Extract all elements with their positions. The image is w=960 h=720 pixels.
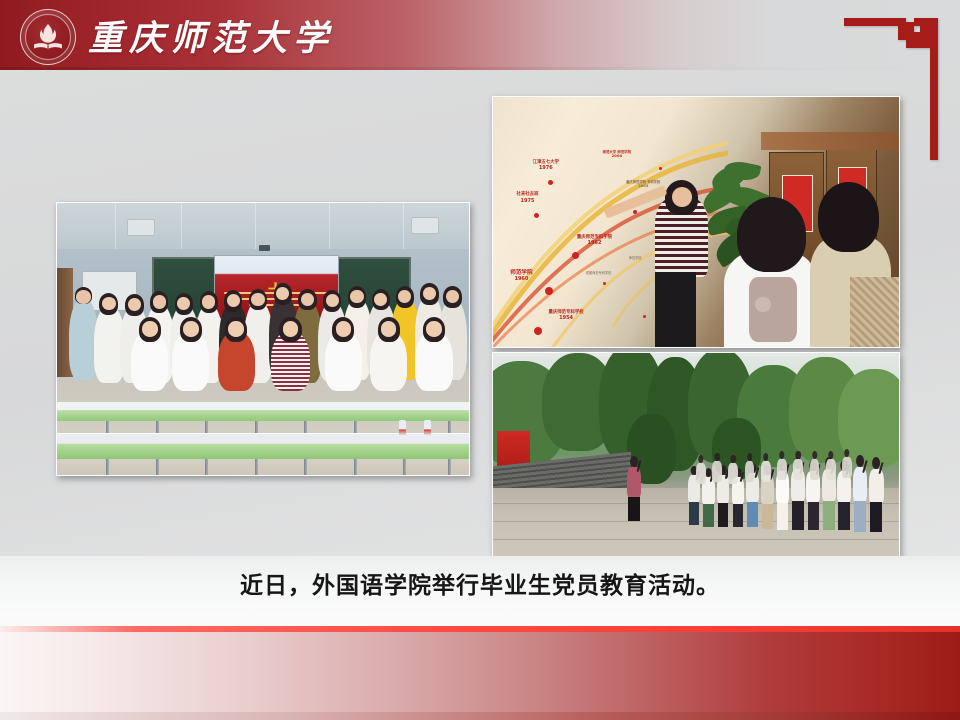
footer-bottom-edge [0, 712, 960, 720]
university-emblem [20, 9, 76, 65]
slide-caption: 近日，外国语学院举行毕业生党员教育活动。 [0, 566, 960, 600]
outdoor-oath-ceremony-photo[interactable] [492, 352, 900, 558]
ceremony-leader [627, 467, 641, 520]
milestone-year: 1954 [517, 315, 614, 321]
emblem-flame-book-glyph [30, 19, 66, 55]
history-wall-scene: 江津五七大学 1976 社来社去班 1975 重庆师范专科学院 1962 师范学… [493, 97, 899, 347]
classroom-scene [57, 203, 469, 475]
university-wordmark: 重庆师范大学 [88, 4, 334, 66]
milestone-label: 重庆师范学院 专科学校 [626, 180, 660, 184]
milestone-label: 重庆师范专科学院 [577, 235, 612, 240]
oath-ceremony-scene [493, 353, 899, 557]
milestone-year: 1962 [550, 240, 639, 246]
milestone-label: 社来社去班 [517, 192, 539, 197]
milestone-label: 重庆师范专科学校 [549, 310, 584, 315]
timeline-milestone: 江津五七大学 1976 [513, 160, 578, 172]
timeline-minor-milestone: 师范大学 师范学院 2004 [590, 150, 643, 159]
milestone-year: 1975 [497, 198, 558, 204]
milestone-year: 1976 [513, 165, 578, 171]
milestone-label: 师范学院 [510, 270, 532, 276]
slide-header: 重庆师范大学 [0, 0, 960, 70]
classroom-group-photo[interactable] [56, 202, 470, 476]
timeline-minor-milestone: 成都师范专科学校 [566, 272, 631, 276]
milestone-label: 江津五七大学 [533, 160, 559, 165]
presentation-slide: 重庆师范大学 [0, 0, 960, 720]
timeline-milestone: 重庆师范专科学校 1954 [517, 310, 614, 322]
timeline-milestone: 师范学院 1960 [492, 270, 554, 283]
timeline-minor-milestone: 师范学校 [611, 257, 660, 261]
timeline-milestone: 社来社去班 1975 [497, 192, 558, 204]
footer-gradient-band [0, 632, 960, 712]
campus-history-wall-photo[interactable]: 江津五七大学 1976 社来社去班 1975 重庆师范专科学院 1962 师范学… [492, 96, 900, 348]
timeline-milestone: 重庆师范专科学院 1962 [550, 235, 639, 247]
milestone-year: 2004 [590, 154, 643, 159]
milestone-year: 1960 [492, 276, 554, 282]
